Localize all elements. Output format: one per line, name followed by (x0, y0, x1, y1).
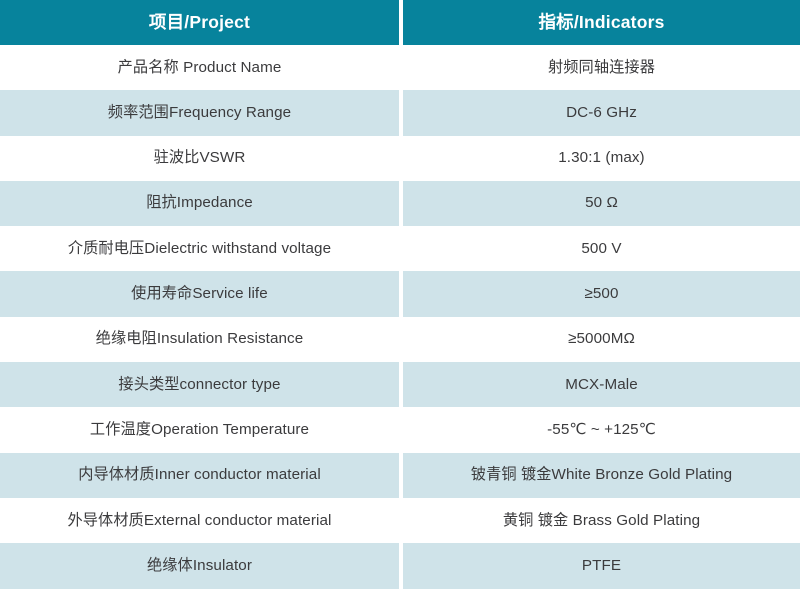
cell-project: 工作温度Operation Temperature (0, 407, 399, 452)
cell-indicator: MCX-Male (403, 362, 800, 407)
cell-indicator: ≥5000MΩ (403, 317, 800, 362)
table-header-row: 项目/Project 指标/Indicators (0, 0, 800, 45)
cell-project: 使用寿命Service life (0, 271, 399, 316)
cell-indicator: ≥500 (403, 271, 800, 316)
cell-indicator: DC-6 GHz (403, 90, 800, 135)
cell-project: 介质耐电压Dielectric withstand voltage (0, 226, 399, 271)
table-row: 绝缘电阻Insulation Resistance ≥5000MΩ (0, 317, 800, 362)
column-header-project: 项目/Project (0, 0, 399, 45)
cell-indicator: PTFE (403, 543, 800, 588)
cell-indicator: 铍青铜 镀金White Bronze Gold Plating (403, 453, 800, 498)
table-row: 外导体材质External conductor material 黄铜 镀金 B… (0, 498, 800, 543)
cell-indicator: 射频同轴连接器 (403, 45, 800, 90)
table-row: 产品名称 Product Name 射频同轴连接器 (0, 45, 800, 90)
cell-project: 绝缘体Insulator (0, 543, 399, 588)
table-row: 频率范围Frequency Range DC-6 GHz (0, 90, 800, 135)
table-row: 工作温度Operation Temperature -55℃ ~ +125℃ (0, 407, 800, 452)
table-row: 驻波比VSWR 1.30:1 (max) (0, 136, 800, 181)
cell-project: 接头类型connector type (0, 362, 399, 407)
table-row: 使用寿命Service life ≥500 (0, 271, 800, 316)
cell-indicator: 50 Ω (403, 181, 800, 226)
table-row: 内导体材质Inner conductor material 铍青铜 镀金Whit… (0, 453, 800, 498)
cell-indicator: -55℃ ~ +125℃ (403, 407, 800, 452)
table-row: 介质耐电压Dielectric withstand voltage 500 V (0, 226, 800, 271)
column-header-indicators: 指标/Indicators (403, 0, 800, 45)
cell-project: 内导体材质Inner conductor material (0, 453, 399, 498)
cell-project: 频率范围Frequency Range (0, 90, 399, 135)
cell-project: 外导体材质External conductor material (0, 498, 399, 543)
cell-project: 驻波比VSWR (0, 136, 399, 181)
cell-project: 绝缘电阻Insulation Resistance (0, 317, 399, 362)
table-row: 绝缘体Insulator PTFE (0, 543, 800, 588)
table-row: 接头类型connector type MCX-Male (0, 362, 800, 407)
cell-indicator: 黄铜 镀金 Brass Gold Plating (403, 498, 800, 543)
specification-table: 项目/Project 指标/Indicators 产品名称 Product Na… (0, 0, 800, 589)
cell-project: 阻抗Impedance (0, 181, 399, 226)
cell-indicator: 1.30:1 (max) (403, 136, 800, 181)
table-row: 阻抗Impedance 50 Ω (0, 181, 800, 226)
cell-indicator: 500 V (403, 226, 800, 271)
cell-project: 产品名称 Product Name (0, 45, 399, 90)
